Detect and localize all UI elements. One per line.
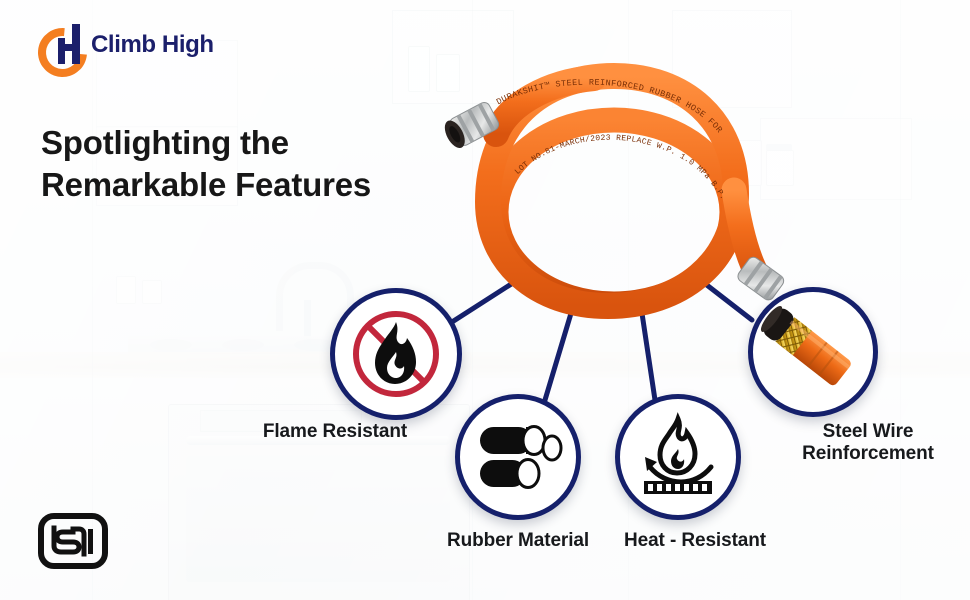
feature-node-heat-resistant[interactable] [615,394,741,520]
feature-label-steel-line-2: Reinforcement [768,443,968,465]
coiled-lpg-hose-image: DURAKSHIT™ STEEL REINFORCED RUBBER HOSE … [418,62,798,322]
feature-label-steel-line-1: Steel Wire [768,421,968,443]
feature-node-steel-wire-reinforcement[interactable] [748,287,878,417]
feature-label-steel-wire-reinforcement: Steel Wire Reinforcement [768,421,968,466]
feature-label-flame-resistant: Flame Resistant [205,421,465,443]
braided-steel-wire-hose-icon [757,296,869,408]
infographic-canvas: Climb High Spotlighting the Remarkable F… [0,0,970,600]
feature-label-heat-resistant: Heat - Resistant [590,530,800,552]
isi-certification-mark-icon [38,512,108,570]
heat-deflection-flame-icon [628,407,728,507]
feature-node-flame-resistant[interactable] [330,288,462,420]
no-flame-prohibition-icon [342,300,450,408]
feature-node-rubber-material[interactable] [455,394,581,520]
rubber-tubes-icon [468,407,568,507]
